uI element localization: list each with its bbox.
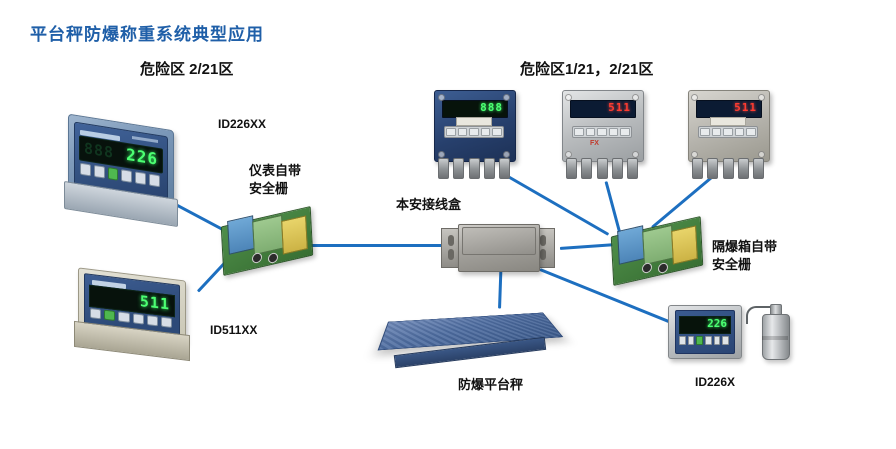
key-4[interactable] [147,315,158,326]
load-cell [752,300,798,366]
key-5[interactable] [620,128,630,136]
key-5[interactable] [161,317,172,328]
page-title: 平台秤防爆称重系统典型应用 [30,20,264,45]
key-1[interactable] [90,308,101,319]
pcb-label-area [252,215,284,255]
label-ex-barrier-line2: 安全栅 [712,256,777,274]
nameplate [710,117,746,126]
terminal-block-blue [617,225,645,265]
zone-heading-left: 危险区 2/21区 [140,58,233,79]
key-4[interactable] [135,171,146,185]
terminal-block-yellow [671,225,698,264]
terminal-block-blue [227,215,255,255]
mount-slot [540,235,546,246]
mount-slot [448,235,454,246]
link-barrier-to-junction [300,244,442,247]
ex-box-keypad[interactable] [572,126,632,138]
ex-box-1[interactable]: 888 [428,88,520,180]
key-4[interactable] [481,128,491,136]
diagram-canvas: 平台秤防爆称重系统典型应用 危险区 2/21区 危险区1/21，2/21区 88… [0,0,896,449]
key-3[interactable] [597,128,607,136]
label-meter-barrier-line1: 仪表自带 [249,162,301,180]
ex-box-display: 888 [442,100,508,118]
key-1[interactable] [700,128,710,136]
key-2[interactable] [458,128,468,136]
led-digits: 226 [707,317,727,330]
mount-slot [540,249,546,260]
cable-glands [438,158,510,178]
label-ex-barrier: 隔爆箱自带 安全栅 [712,238,777,274]
key-1[interactable] [446,128,456,136]
key-1[interactable] [574,128,584,136]
terminal-block-yellow [281,215,308,254]
key-3[interactable] [723,128,733,136]
brand-logo: FX [590,140,599,147]
keypad[interactable] [679,336,729,345]
ex-box-keypad[interactable] [698,126,758,138]
key-5[interactable] [746,128,756,136]
link-junction-to-barrier-right [560,243,614,250]
key-3[interactable] [133,313,144,324]
ex-box-digits: 511 [608,101,631,114]
safety-barrier-right[interactable] [612,218,700,282]
label-meter-barrier-line2: 安全栅 [249,180,301,198]
label-id511xx: ID511XX [210,322,257,339]
label-id226xx: ID226XX [218,116,266,133]
key-2[interactable] [688,336,695,345]
load-cell-ring [762,336,788,340]
led-digits: 511 [140,292,170,314]
ex-box-3[interactable]: 511 [682,88,774,180]
key-5[interactable] [149,174,160,188]
ex-box-keypad[interactable] [444,126,504,138]
label-junction-box: 本安接线盒 [396,196,461,214]
key-4[interactable] [609,128,619,136]
label-ex-barrier-line1: 隔爆箱自带 [712,238,777,256]
ex-box-2[interactable]: 511 FX [556,88,648,180]
led-ghost-digits: 888 [84,139,114,162]
label-meter-barrier: 仪表自带 安全栅 [249,162,301,198]
ex-box-display: 511 [570,100,636,118]
key-5[interactable] [492,128,502,136]
key-2[interactable] [94,165,105,179]
key-4[interactable] [714,336,721,345]
led-display: 226 [679,316,731,334]
ex-box-digits: 511 [734,101,757,114]
led-digits: 226 [126,145,158,169]
pcb-label-area [642,225,674,265]
key-2[interactable] [712,128,722,136]
zone-heading-right: 危险区1/21，2/21区 [520,58,653,79]
platform-scale[interactable] [378,300,568,375]
key-3[interactable] [469,128,479,136]
key-3[interactable] [705,336,712,345]
key-1[interactable] [80,163,91,177]
key-4[interactable] [735,128,745,136]
label-id226x: ID226X [695,374,735,391]
key-2[interactable] [118,311,129,322]
id226x-indicator[interactable]: 226 [668,305,740,359]
key-enter[interactable] [108,167,119,181]
key-3[interactable] [121,169,132,183]
ex-box-digits: 888 [480,101,503,114]
cable-glands [692,158,764,178]
key-5[interactable] [722,336,729,345]
label-platform-scale: 防爆平台秤 [458,376,523,394]
nameplate [456,117,492,126]
cable-glands [566,158,638,178]
key-1[interactable] [679,336,686,345]
ex-box-display: 511 [696,100,762,118]
safety-barrier-left[interactable] [222,208,310,272]
mount-slot [448,249,454,260]
key-2[interactable] [586,128,596,136]
key-enter[interactable] [696,336,703,345]
id226xx-indicator[interactable]: 888 226 [60,118,182,224]
id511xx-indicator[interactable]: 511 [72,272,192,364]
junction-box-lid [462,227,536,255]
junction-box[interactable] [440,218,556,280]
key-enter[interactable] [104,310,115,321]
